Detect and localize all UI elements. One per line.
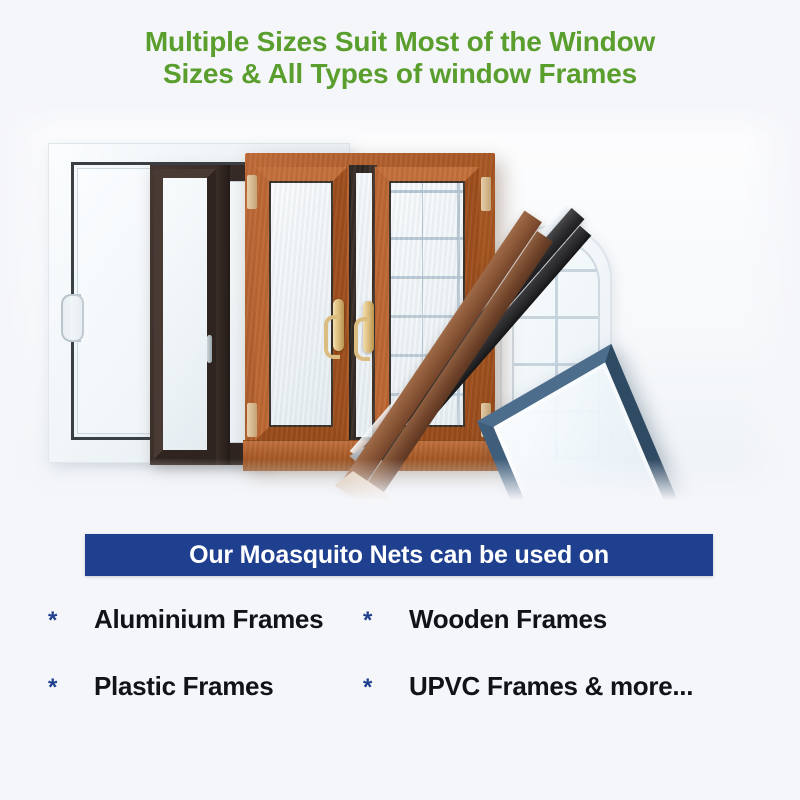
list-row: * Plastic Frames * UPVC Frames & more... — [0, 671, 800, 702]
wooden-window-left-glass — [269, 181, 333, 427]
asterisk-bullet-icon: * — [48, 674, 94, 700]
headline-line-2: Sizes & All Types of window Frames — [0, 58, 800, 90]
wooden-window-hinge-3-icon — [481, 177, 491, 211]
list-item-label: Wooden Frames — [409, 604, 607, 635]
dark-window-open-sash — [154, 169, 216, 459]
section-banner-label: Our Moasquito Nets can be used on — [189, 541, 609, 570]
list-item-aluminium-frames: * Aluminium Frames — [0, 604, 355, 635]
list-item-plastic-frames: * Plastic Frames — [0, 671, 355, 702]
door-handle-secondary-icon — [71, 294, 84, 342]
hero-product-image — [0, 105, 800, 505]
promo-page: Multiple Sizes Suit Most of the Window S… — [0, 0, 800, 800]
list-item-label: Aluminium Frames — [94, 604, 323, 635]
asterisk-bullet-icon: * — [363, 674, 409, 700]
hero-fade-top — [0, 105, 800, 139]
section-banner: Our Moasquito Nets can be used on — [85, 534, 713, 576]
list-item-label: UPVC Frames & more... — [409, 671, 693, 702]
asterisk-bullet-icon: * — [48, 607, 94, 633]
list-row: * Aluminium Frames * Wooden Frames — [0, 604, 800, 635]
wooden-window-hinge-icon — [247, 175, 257, 209]
dark-window-handle-icon — [207, 335, 212, 363]
dark-window-mullion — [216, 165, 230, 465]
list-item-wooden-frames: * Wooden Frames — [355, 604, 755, 635]
asterisk-bullet-icon: * — [363, 607, 409, 633]
list-item-label: Plastic Frames — [94, 671, 273, 702]
hero-fade-right — [740, 105, 800, 505]
frame-types-list: * Aluminium Frames * Wooden Frames * Pla… — [0, 604, 800, 702]
list-item-upvc-frames: * UPVC Frames & more... — [355, 671, 755, 702]
headline-line-1: Multiple Sizes Suit Most of the Window — [0, 26, 800, 58]
handle-lever-icon — [324, 315, 340, 359]
handle-lever-2-icon — [354, 317, 370, 361]
page-title: Multiple Sizes Suit Most of the Window S… — [0, 26, 800, 90]
wooden-window-hinge-2-icon — [247, 403, 257, 437]
wooden-window-handle-left-icon — [333, 299, 344, 351]
wooden-window-handle-right-icon — [363, 301, 374, 353]
